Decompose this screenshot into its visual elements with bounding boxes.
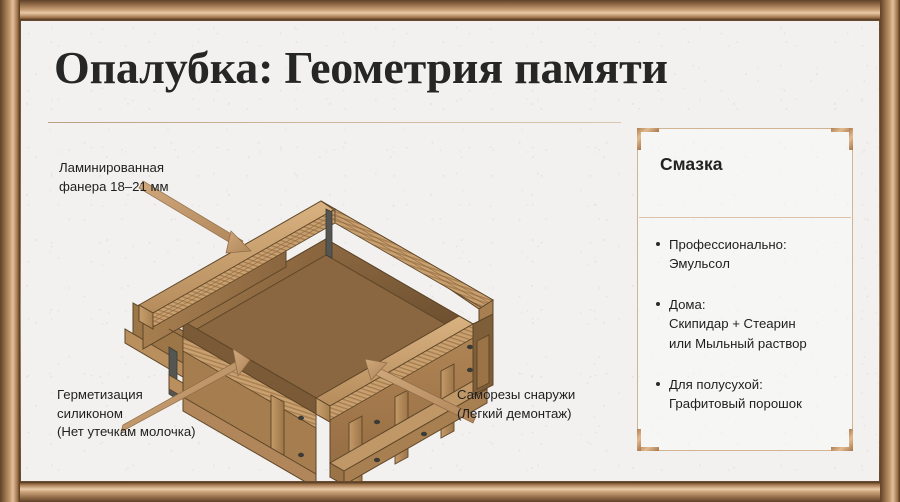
seal-strip-back-corner (326, 209, 332, 258)
screw-icon (374, 420, 380, 424)
frame-left-edge (0, 0, 20, 502)
screw-icon (298, 416, 304, 420)
list-item: Дома: Скипидар + Стеарин или Мыльный рас… (654, 295, 842, 352)
rib-right-end (477, 335, 489, 389)
title-divider (48, 122, 621, 123)
page-title: Опалубка: Геометрия памяти (54, 44, 668, 92)
frame-bottom-edge (0, 482, 900, 502)
panel-bullet-list: Профессионально: Эмульсол Дома: Скипидар… (654, 235, 842, 435)
corner-bracket-top-right (831, 128, 853, 150)
screw-icon (374, 458, 380, 462)
callout-silicone: Герметизация силиконом (Нет утечкам моло… (57, 386, 196, 442)
callout-screws: Саморезы снаружи (Легкий демонтаж) (457, 386, 575, 423)
slide-canvas: Опалубка: Геометрия памяти (21, 21, 879, 481)
panel-divider (639, 217, 851, 218)
list-item: Для полусухой: Графитовый порошок (654, 375, 842, 413)
screw-icon (298, 453, 304, 457)
panel-title: Смазка (660, 154, 723, 175)
screw-icon (467, 345, 473, 349)
corner-bracket-top-left (637, 128, 659, 150)
list-item: Профессионально: Эмульсол (654, 235, 842, 273)
info-panel-lubrication: Смазка Профессионально: Эмульсол Дома: С… (637, 128, 853, 451)
screw-icon (421, 432, 427, 436)
slide: Опалубка: Геометрия памяти (0, 0, 900, 502)
callout-plywood: Ламинированная фанера 18–21 мм (59, 159, 169, 196)
frame-top-edge (0, 0, 900, 20)
screw-icon (467, 368, 473, 372)
frame-right-edge (880, 0, 900, 502)
